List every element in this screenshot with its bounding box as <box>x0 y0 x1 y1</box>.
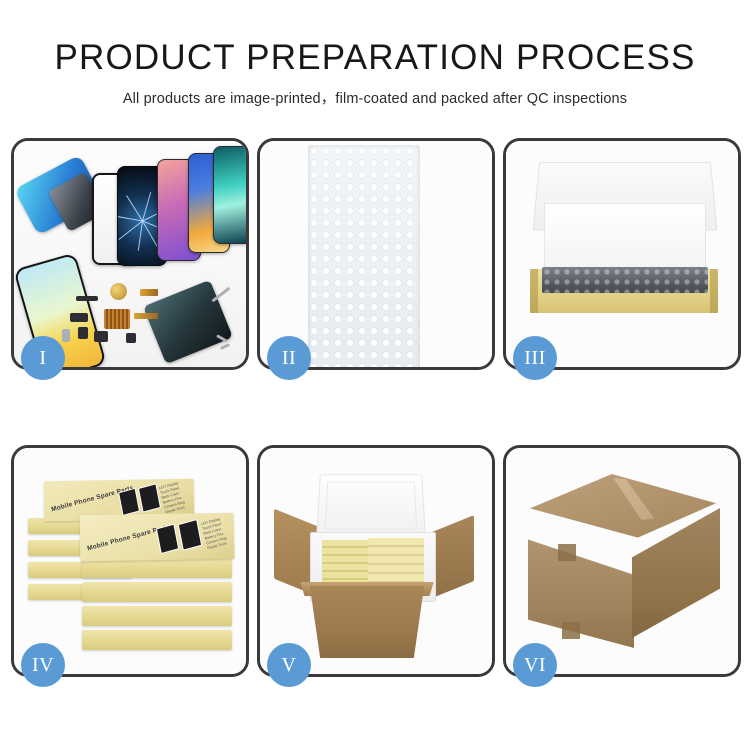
box-bullets-upper: LCD Display Touch Panel Back Cover Batte… <box>158 481 186 515</box>
box-stack: Mobile Phone Spare Parts LCD Display Tou… <box>26 462 240 666</box>
step-image-1 <box>14 141 246 367</box>
part-speaker-gold <box>110 283 127 300</box>
step-image-4: Mobile Phone Spare Parts LCD Display Tou… <box>14 448 246 674</box>
part-logicboard-copper <box>104 309 130 329</box>
step-panel-5[interactable]: V <box>257 445 495 677</box>
part-vibrator <box>126 333 136 343</box>
stacked-box-front-3 <box>82 606 232 626</box>
step-badge-3: III <box>513 336 557 380</box>
phone-screen-teal <box>213 146 246 244</box>
part-module-small-2 <box>78 327 88 339</box>
step-panel-1[interactable]: I <box>11 138 249 370</box>
step-image-2 <box>260 141 492 367</box>
inner-box-left-edge <box>530 269 538 313</box>
step-panel-2[interactable]: II <box>257 138 495 370</box>
part-flex-cable-1 <box>140 289 158 296</box>
part-sim-tray <box>62 329 70 342</box>
part-module-small-1 <box>70 313 88 322</box>
process-step-grid: I II III <box>11 138 741 677</box>
bubble-wrap-bag <box>308 145 420 367</box>
step-image-3 <box>506 141 738 367</box>
inner-box-foam-sheet <box>544 203 706 277</box>
step-panel-3[interactable]: III <box>503 138 741 370</box>
step-image-6 <box>506 448 738 674</box>
inner-box-contents-bubble <box>542 267 708 293</box>
infographic-page: PRODUCT PREPARATION PROCESS All products… <box>0 0 750 750</box>
carton-body <box>302 586 432 658</box>
header: PRODUCT PREPARATION PROCESS All products… <box>0 38 750 108</box>
part-camera-module <box>94 331 108 342</box>
page-title: PRODUCT PREPARATION PROCESS <box>0 38 750 78</box>
stacked-box-front-4 <box>82 630 232 650</box>
step-image-5 <box>260 448 492 674</box>
stacked-box-front-2 <box>82 582 232 602</box>
step-panel-4[interactable]: Mobile Phone Spare Parts LCD Display Tou… <box>11 445 249 677</box>
page-subtitle: All products are image-printed，film-coat… <box>0 87 750 108</box>
step-panel-6[interactable]: VI <box>503 445 741 677</box>
printed-box-lower: Mobile Phone Spare Parts LCD Display Tou… <box>80 513 235 562</box>
step-badge-1: I <box>21 336 65 380</box>
foam-lid-groove <box>325 482 417 530</box>
box-thumb-lower-1 <box>156 524 179 555</box>
part-flex-cable-2 <box>134 313 158 319</box>
carton-front-face <box>528 530 634 648</box>
box-thumb-upper-2 <box>138 483 161 513</box>
box-bullets-lower: LCD Display Touch Panel Back Cover Batte… <box>200 517 228 551</box>
carton-tab-upper <box>558 544 576 561</box>
stacked-box-front-1 <box>82 558 232 578</box>
carton-tab-lower <box>562 622 580 639</box>
box-thumb-upper-1 <box>118 488 140 516</box>
step-badge-5: V <box>267 643 311 687</box>
inner-box-right-edge <box>710 269 718 313</box>
foam-box-lid <box>316 474 426 538</box>
part-connector-bar <box>76 296 98 301</box>
step-badge-2: II <box>267 336 311 380</box>
box-thumb-lower-2 <box>178 519 202 551</box>
step-badge-6: VI <box>513 643 557 687</box>
step-badge-4: IV <box>21 643 65 687</box>
